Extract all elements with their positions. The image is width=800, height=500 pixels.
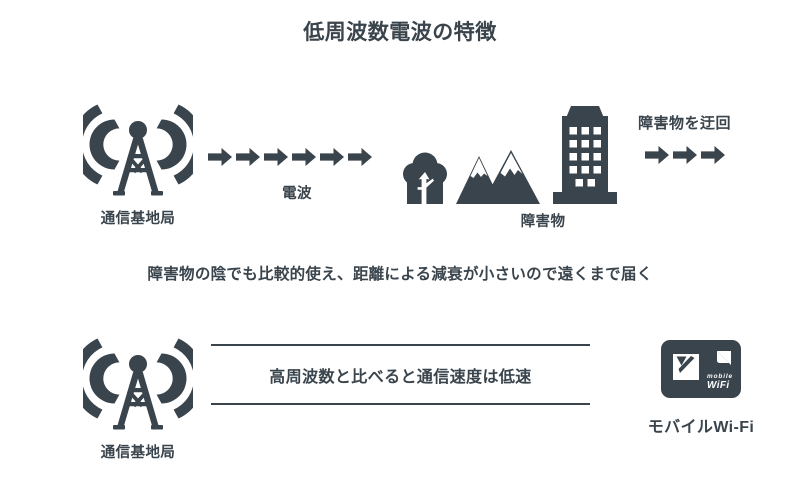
base-station-top-label: 通信基地局 — [76, 207, 200, 228]
cell-tower-icon — [83, 332, 193, 432]
base-station-bottom-label: 通信基地局 — [76, 441, 200, 462]
obstacles-label: 障害物 — [398, 210, 634, 231]
right-arrow-icon — [292, 148, 316, 166]
bypass-arrows — [645, 146, 725, 164]
middle-note: 障害物の陰でも比較的使え、距離による減衰が小さいので遠くまで届く — [0, 262, 800, 284]
mobile-wifi-device-icon: mobile WiFi — [661, 340, 741, 398]
right-arrow-icon — [673, 146, 697, 164]
right-arrow-icon — [208, 148, 232, 166]
right-arrow-icon — [645, 146, 669, 164]
right-arrow-icon — [264, 148, 288, 166]
mobile-wifi-device: mobile WiFi — [661, 340, 741, 403]
building-icon — [544, 104, 626, 204]
obstacles-group: 障害物 — [398, 104, 634, 231]
right-arrow-icon — [236, 148, 260, 166]
right-arrow-icon — [701, 146, 725, 164]
right-arrow-icon — [348, 148, 372, 166]
base-station-top: 通信基地局 — [76, 98, 200, 228]
radio-wave-arrows — [208, 148, 372, 166]
speed-comparison-band: 高周波数と比べると通信速度は低速 — [211, 344, 590, 405]
radio-wave-label: 電波 — [208, 182, 386, 203]
device-label-wifi: WiFi — [707, 380, 730, 391]
device-label-mobile: mobile — [707, 373, 733, 380]
mountain-icon — [454, 148, 540, 204]
obstacle-icon-row — [398, 104, 634, 204]
right-arrow-icon — [320, 148, 344, 166]
cell-tower-icon — [83, 98, 193, 198]
band-bottom-rule — [211, 403, 590, 405]
speed-comparison-text: 高周波数と比べると通信速度は低速 — [211, 346, 590, 403]
bypass-label: 障害物を迂回 — [638, 112, 731, 133]
infographic-canvas: 低周波数電波の特徴 — [0, 0, 800, 500]
base-station-bottom: 通信基地局 — [76, 332, 200, 462]
mobile-wifi-block: mobile WiFi モバイルWi-Fi — [612, 340, 790, 437]
mobile-wifi-label: モバイルWi-Fi — [612, 413, 790, 437]
page-title: 低周波数電波の特徴 — [0, 16, 800, 46]
tree-icon — [402, 152, 448, 204]
